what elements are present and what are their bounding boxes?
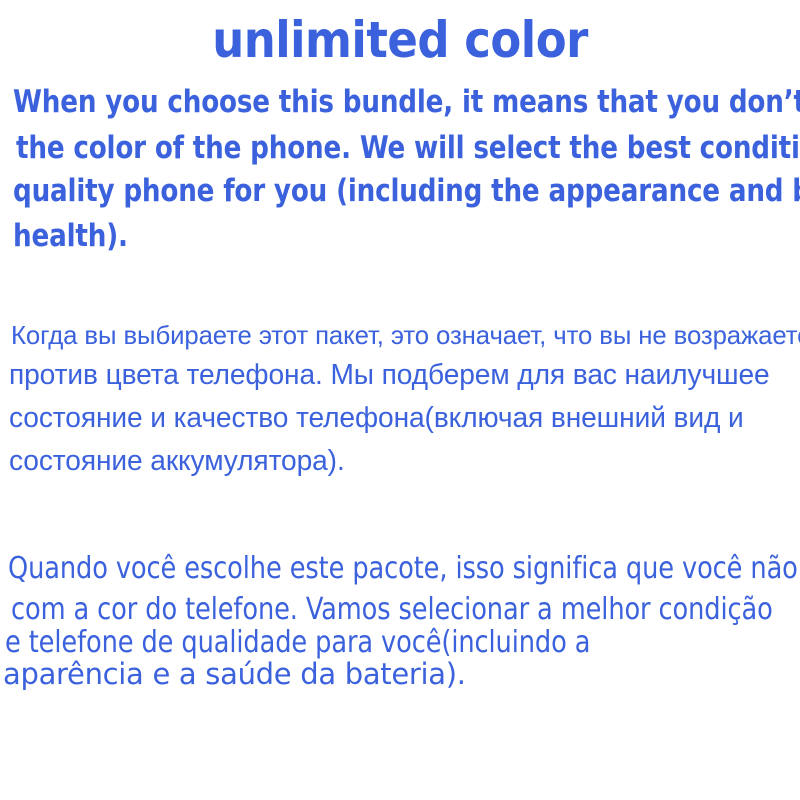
- promo-banner: unlimited color When you choose this bun…: [0, 0, 800, 800]
- russian-line-4: состояние аккумулятора).: [9, 444, 345, 478]
- russian-line-2: против цвета телефона. Мы подберем для в…: [9, 358, 770, 392]
- english-line-3: quality phone for you (including the app…: [13, 173, 800, 209]
- portuguese-line-4: aparência e a saúde da bateria).: [3, 657, 466, 692]
- portuguese-line-3: e telefone de qualidade para você(inclui…: [5, 625, 590, 660]
- russian-line-1: Когда вы выбираете этот пакет, это означ…: [11, 318, 800, 352]
- english-line-4: health).: [13, 218, 128, 254]
- english-line-2: the color of the phone. We will select t…: [16, 130, 800, 166]
- page-title: unlimited color: [0, 12, 800, 68]
- portuguese-line-2: com a cor do telefone. Vamos selecionar …: [11, 592, 773, 627]
- russian-line-3: состояние и качество телефона(включая вн…: [9, 401, 744, 435]
- english-line-1: When you choose this bundle, it means th…: [13, 84, 800, 120]
- portuguese-line-1: Quando você escolhe este pacote, isso si…: [8, 551, 800, 586]
